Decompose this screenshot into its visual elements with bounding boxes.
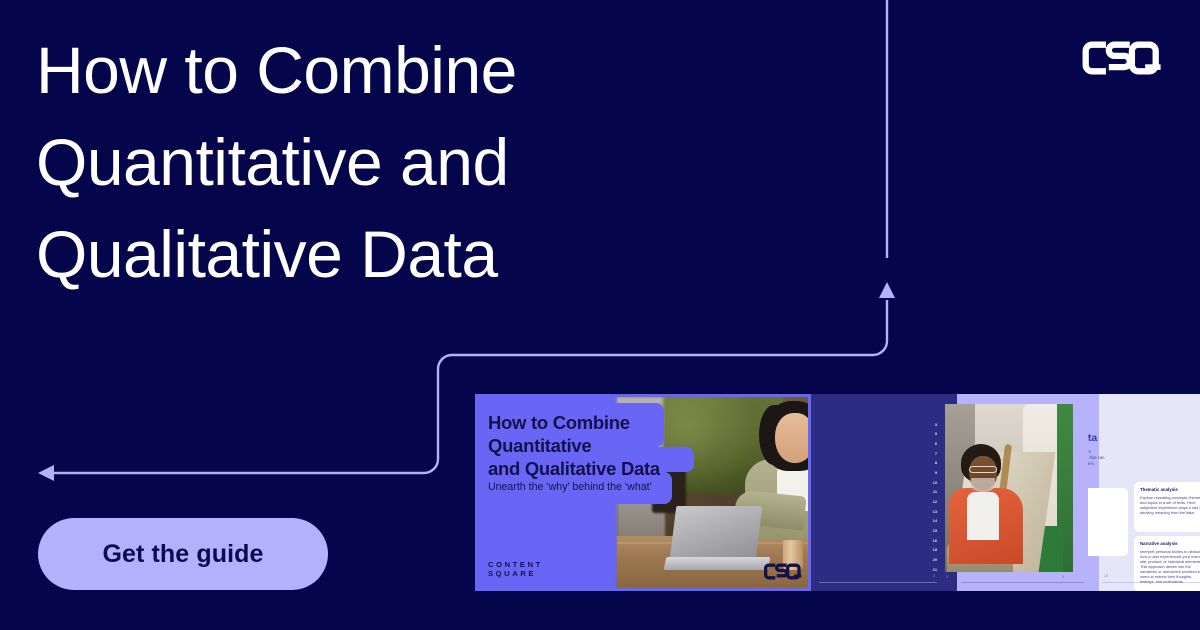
toc-row[interactable]: 10 (811, 478, 941, 488)
toc-row-page: 3 (929, 423, 937, 428)
toc-row-page: 5 (929, 432, 937, 437)
toc-row-page: 13 (927, 510, 937, 515)
guide-preview-strip[interactable]: How to Combine Quantitative and Qualitat… (475, 394, 1200, 591)
csq-logo (762, 561, 802, 582)
preview-page-table-of-contents[interactable]: 3ative or qualitative data5ted or hypoth… (811, 394, 943, 591)
toc-row[interactable]: n20 (811, 556, 941, 566)
toc-row[interactable]: 16 (811, 536, 941, 546)
toc-row[interactable]: 3 (811, 420, 941, 430)
content-card-thematic-analysis: Thematic analysis Explore repeating conc… (1134, 482, 1200, 532)
toc-row[interactable]: 12 (811, 498, 941, 508)
preview-page-cover[interactable]: How to Combine Quantitative and Qualitat… (475, 394, 811, 591)
csq-logo (1078, 36, 1162, 80)
toc-row[interactable]: experiences and behavior7 (811, 449, 941, 459)
content-page-number: 18 (1104, 574, 1108, 578)
toc-footer-rule (819, 582, 937, 583)
content-card-4-body: Interpret personal stories to deduce how… (1140, 549, 1200, 585)
toc-row[interactable]: 11 (811, 488, 941, 498)
toc-row-page: 10 (927, 481, 937, 486)
toc-row[interactable]: ted or hypothesis6 (811, 439, 941, 449)
toc-row[interactable]: s15 (811, 527, 941, 537)
toc-row-page: 11 (927, 490, 937, 495)
content-card-3: scapes in ta. This method limination of … (1088, 506, 1128, 556)
content-page-title: al data (1088, 432, 1200, 444)
photo-page-footer-rule (961, 582, 1084, 583)
toc-row-page: 14 (927, 519, 937, 524)
get-the-guide-button[interactable]: Get the guide (38, 518, 328, 590)
brand-line-1: CONTENT (488, 560, 543, 569)
toc-page-number: 2 (933, 574, 935, 578)
toc-row-page: 9 (929, 471, 937, 476)
toc-row[interactable]: and solving issues13 (811, 507, 941, 517)
content-page-lead: mation you’re s processes that can and y… (1088, 449, 1186, 467)
toc-row-page: 8 (929, 461, 937, 466)
content-card-3-body: scapes in ta. This method limination of … (1088, 514, 1122, 539)
toc-list: 3ative or qualitative data5ted or hypoth… (811, 420, 941, 575)
photo-page-number-right: 3 (1062, 575, 1064, 579)
toc-row[interactable]: 21 (811, 565, 941, 575)
content-card-2-body: Explore repeating concepts, themes, and … (1140, 495, 1200, 515)
toc-row-page: 6 (929, 442, 937, 447)
cover-subtitle: Unearth the ‘why’ behind the ‘what’ (488, 481, 688, 493)
toc-row-page: 12 (927, 500, 937, 505)
content-page-footer-rule (1102, 582, 1200, 583)
photo-page-number-left: 2 (946, 575, 948, 579)
cover-title: How to Combine Quantitative and Qualitat… (488, 411, 698, 480)
preview-page-content[interactable]: al data mation you’re s processes that c… (1088, 394, 1200, 591)
toc-row[interactable]: d qualitative data14 (811, 517, 941, 527)
toc-row-page: 18 (927, 548, 937, 553)
toc-row[interactable]: uantitative and qualitative sources9 (811, 468, 941, 478)
toc-row-page: 15 (927, 529, 937, 534)
toc-row-page: 16 (927, 539, 937, 544)
toc-row[interactable]: ualitative data18 (811, 546, 941, 556)
page-bottom-fill (0, 591, 1200, 630)
preview-page-photo[interactable]: 2 3 (943, 394, 1088, 591)
toc-row-page: 7 (929, 452, 937, 457)
toc-row[interactable]: ative or qualitative data5 (811, 430, 941, 440)
toc-row-page: 20 (927, 558, 937, 563)
brand-line-2: SQUARE (488, 569, 543, 578)
toc-row-page: 21 (927, 568, 937, 573)
contentsquare-wordmark: CONTENT SQUARE (478, 555, 555, 584)
man-in-deck-chair-photo (945, 404, 1073, 572)
content-card-4-heading: Narrative analysis (1140, 541, 1200, 546)
page-title: How to Combine Quantitative and Qualitat… (36, 24, 696, 300)
content-card-2-heading: Thematic analysis (1140, 487, 1200, 492)
toc-row[interactable]: y’ behind the ‘what’8 (811, 459, 941, 469)
